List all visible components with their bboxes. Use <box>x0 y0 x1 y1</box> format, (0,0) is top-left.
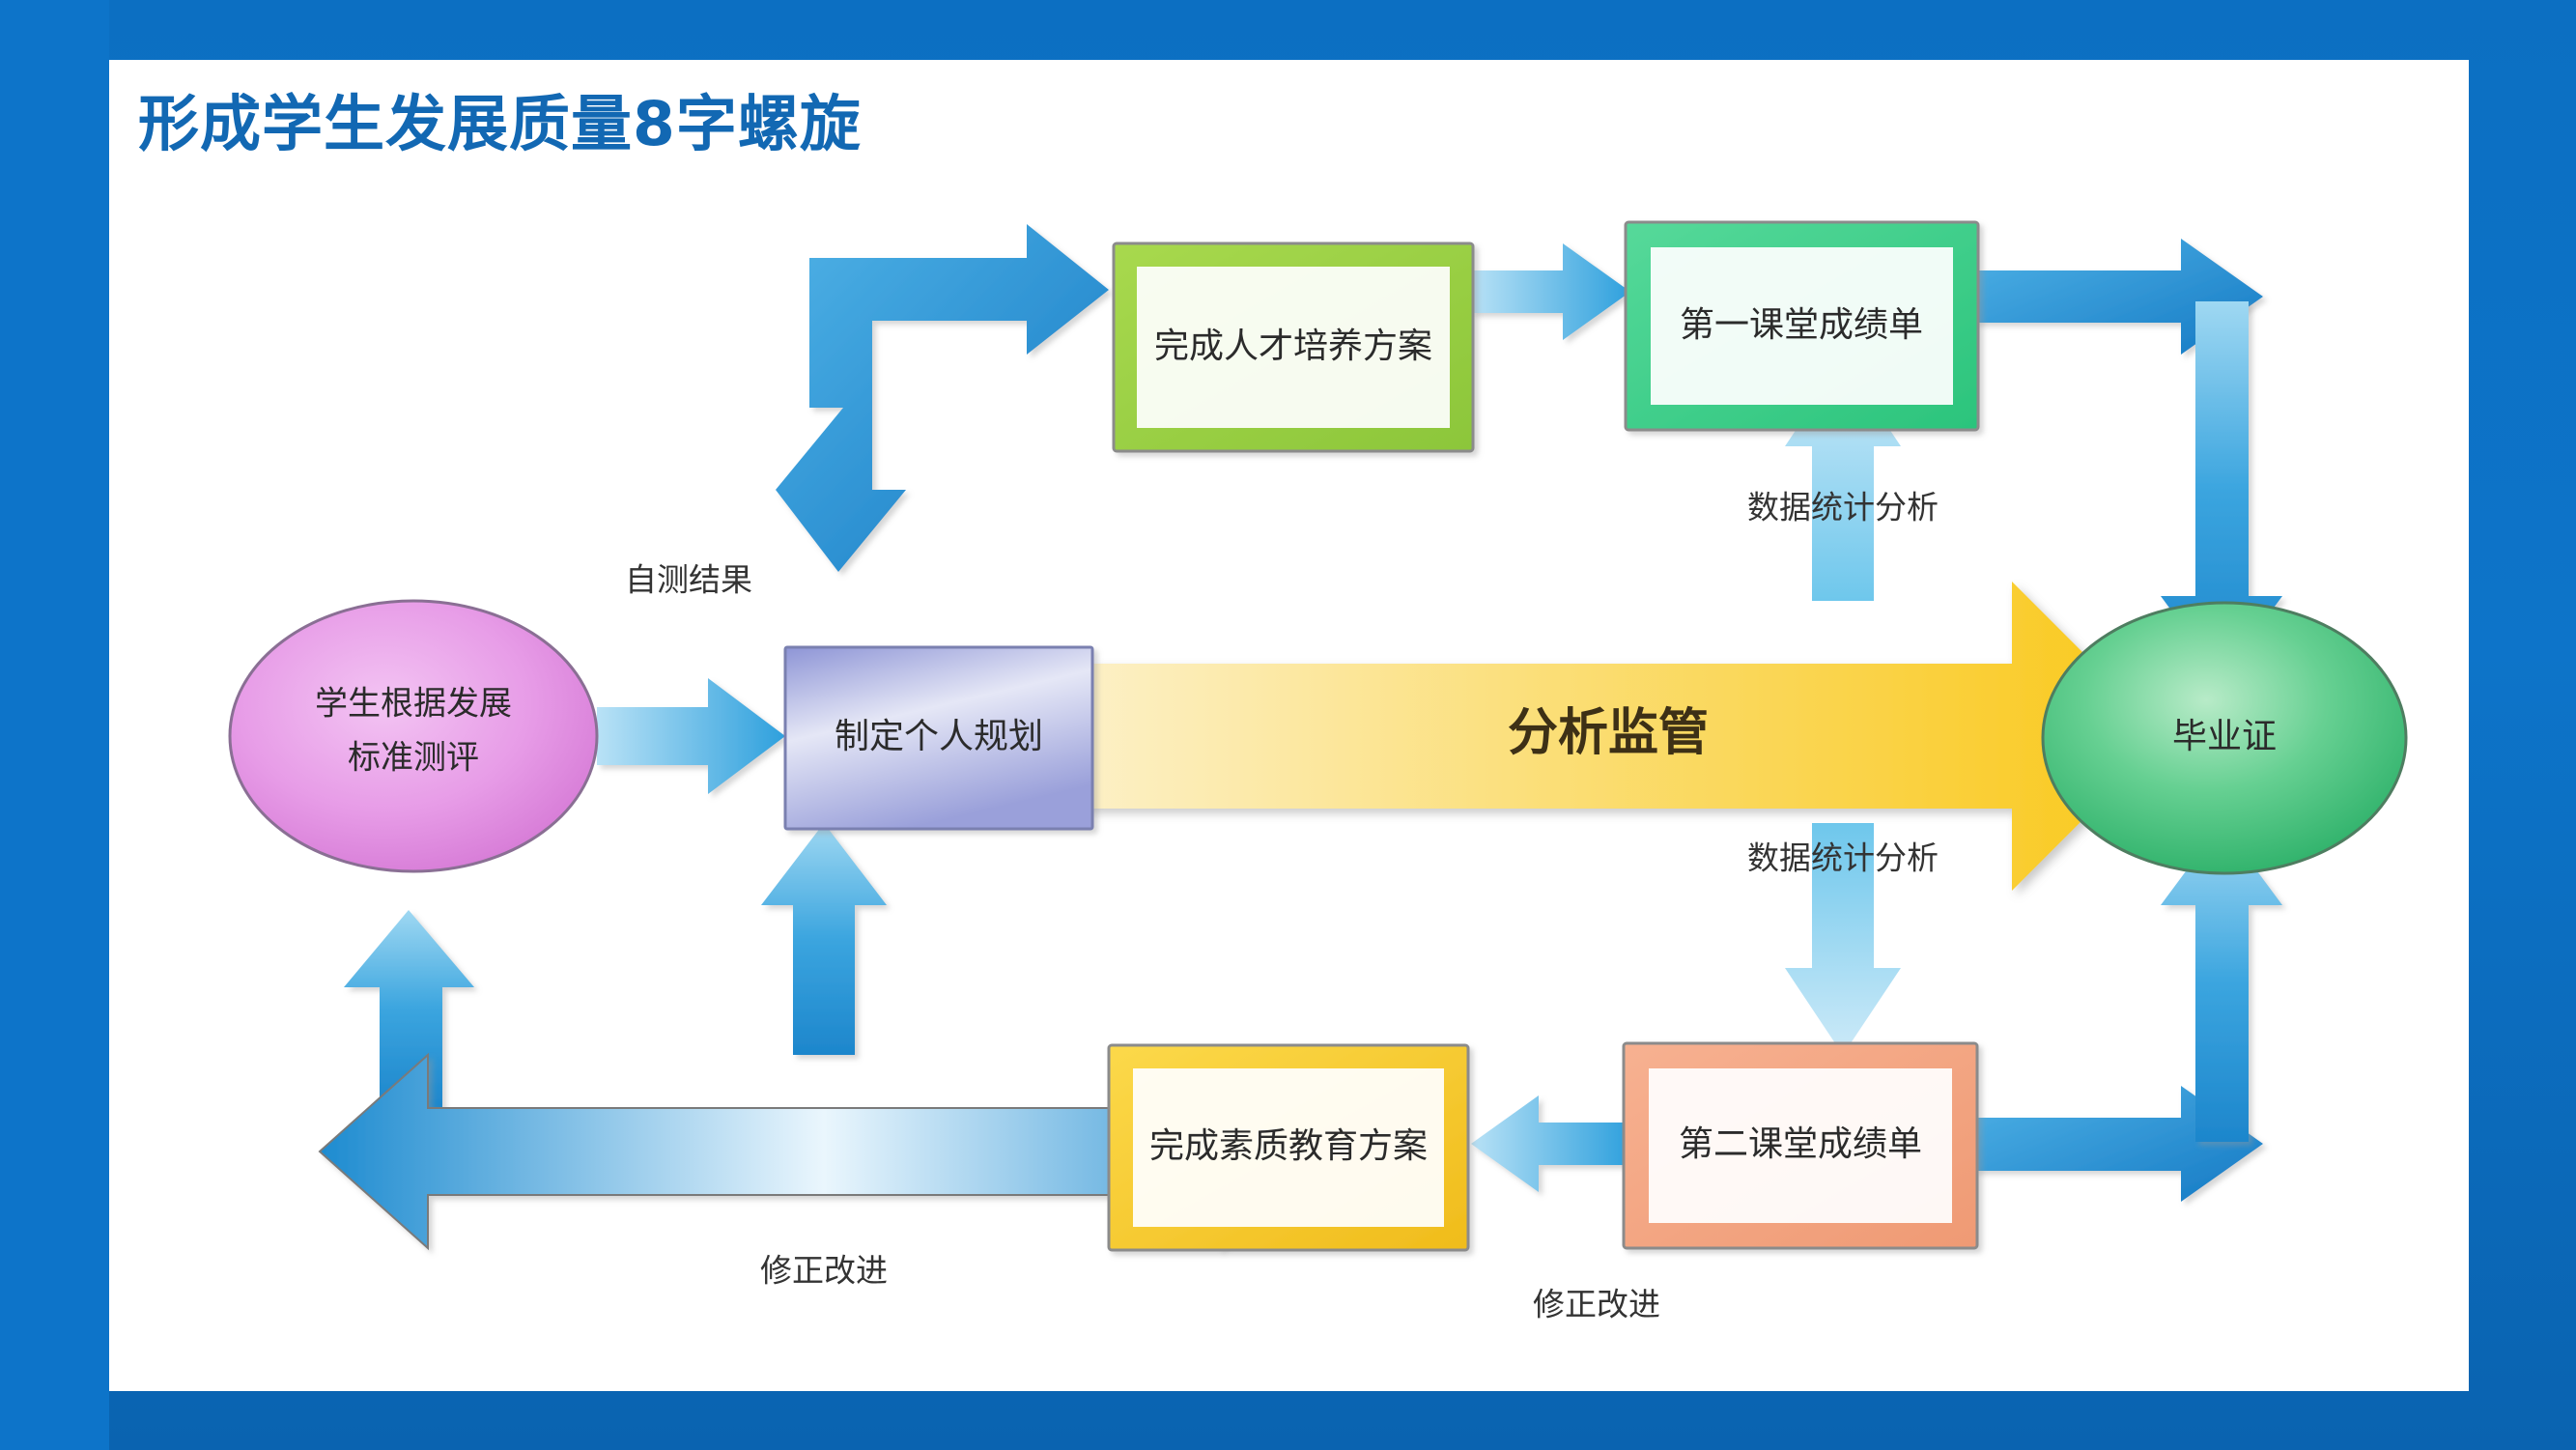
node-talent-plan-label: 完成人才培养方案 <box>1154 327 1432 366</box>
arrow-assess-to-plan <box>597 678 785 794</box>
arrow-label-data-analysis-top: 数据统计分析 <box>1747 489 1939 526</box>
diagram-canvas: 学生根据发展 标准测评 制定个人规划 完成人才培养方案 第一课堂成绩单 完成素质… <box>109 60 2469 1391</box>
node-talent-plan[interactable]: 完成人才培养方案 <box>1114 243 1473 451</box>
node-first-class-report[interactable]: 第一课堂成绩单 <box>1626 222 1978 430</box>
arrow-label-analysis-supervision: 分析监管 <box>1508 704 1709 762</box>
arrow-second-report-to-quality-plan <box>1471 1095 1630 1192</box>
node-second-class-report-label: 第二课堂成绩单 <box>1679 1124 1922 1164</box>
node-quality-edu-plan[interactable]: 完成素质教育方案 <box>1109 1045 1468 1250</box>
left-accent-bar <box>0 0 109 1450</box>
node-plan[interactable]: 制定个人规划 <box>785 647 1092 829</box>
arrow-label-revise-improve-bottom: 修正改进 <box>1533 1286 1660 1323</box>
node-assess[interactable]: 学生根据发展 标准测评 <box>230 601 597 871</box>
node-quality-edu-plan-label: 完成素质教育方案 <box>1149 1126 1428 1166</box>
node-assess-label-line2: 标准测评 <box>348 739 479 778</box>
arrow-plan-to-talent-plan <box>776 224 1109 572</box>
node-first-class-report-label: 第一课堂成绩单 <box>1680 305 1923 345</box>
node-diploma[interactable]: 毕业证 <box>2043 603 2406 873</box>
arrow-talent-plan-to-first-report <box>1471 243 1630 340</box>
node-diploma-label: 毕业证 <box>2172 717 2277 756</box>
node-plan-label: 制定个人规划 <box>835 717 1043 756</box>
arrow-label-self-test-result: 自测结果 <box>625 561 752 599</box>
arrow-label-data-analysis-bottom: 数据统计分析 <box>1747 839 1939 877</box>
node-second-class-report[interactable]: 第二课堂成绩单 <box>1624 1043 1977 1248</box>
node-assess-label-line1: 学生根据发展 <box>315 685 512 724</box>
slide-root: 形成学生发展质量8字螺旋 <box>0 0 2576 1450</box>
arrow-label-revise-improve-left: 修正改进 <box>760 1252 888 1290</box>
